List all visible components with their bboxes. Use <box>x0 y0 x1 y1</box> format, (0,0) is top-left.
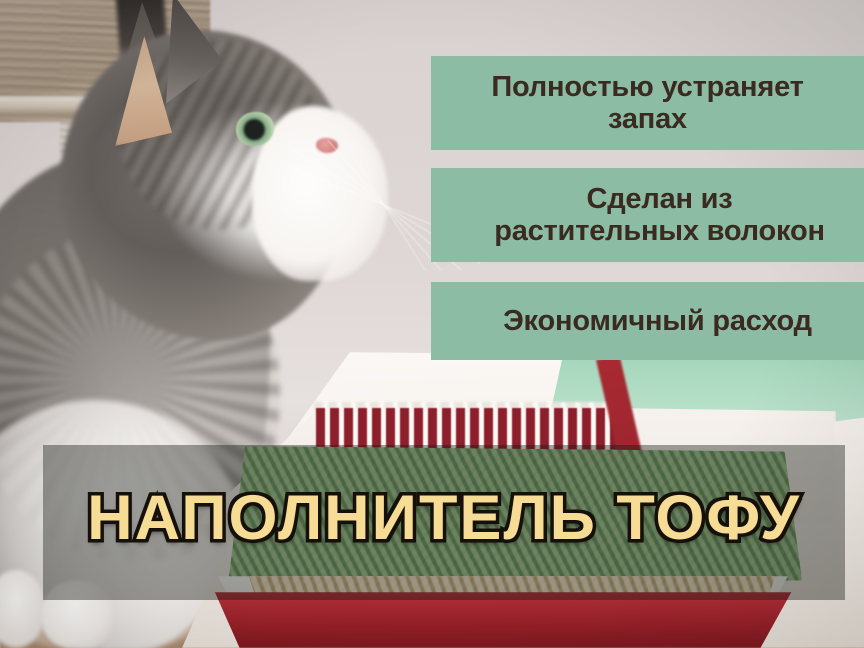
litter-box-comb <box>316 408 622 450</box>
litter-box-red-base <box>190 592 810 648</box>
feature-text-1-line2: запах <box>608 103 687 135</box>
feature-text-1: Полностью устраняет запах <box>491 71 803 136</box>
advertisement-poster: Полностью устраняет запах Сделан из раст… <box>0 0 864 648</box>
feature-banner-2: Сделан из растительных волокон <box>431 168 864 262</box>
feature-banner-3: Экономичный расход <box>431 282 864 360</box>
page-title: НАПОЛНИТЕЛЬ ТОФУ <box>43 468 845 568</box>
feature-text-2: Сделан из растительных волокон <box>494 183 825 248</box>
feature-banner-1: Полностью устраняет запах <box>431 56 864 150</box>
feature-text-3-line1: Экономичный расход <box>503 305 812 337</box>
feature-text-2-line1: Сделан из <box>586 183 732 215</box>
feature-text-2-line2: растительных волокон <box>494 215 825 247</box>
cat-eye <box>236 112 274 146</box>
feature-text-3: Экономичный расход <box>503 305 812 337</box>
feature-text-1-line1: Полностью устраняет <box>491 71 803 103</box>
